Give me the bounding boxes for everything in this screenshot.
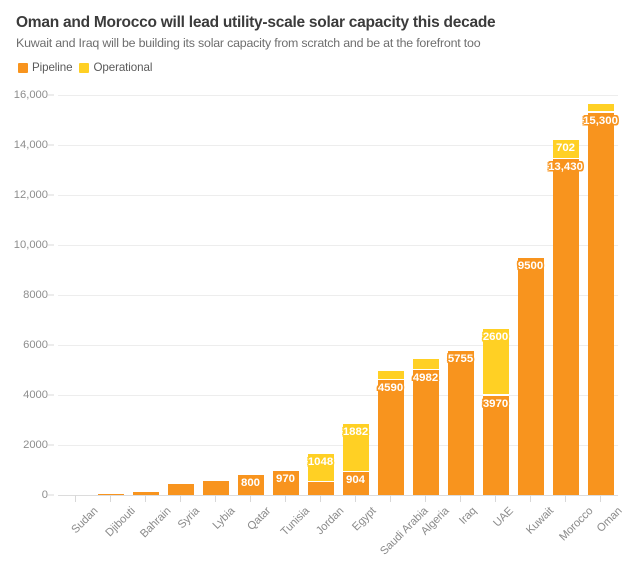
x-axis-tick: [233, 495, 268, 503]
x-axis-tick-mark: [355, 495, 356, 502]
x-axis-label-slot: Syria: [163, 503, 198, 563]
x-axis-label-slot: Sudan: [58, 503, 93, 563]
bar-data-label-operational: 1882: [341, 425, 370, 440]
x-axis-tick-mark: [75, 495, 76, 502]
page-subtitle: Kuwait and Iraq will be building its sol…: [16, 36, 608, 51]
bar-column[interactable]: [58, 95, 93, 495]
bar-segment-pipeline[interactable]: 5755: [448, 351, 474, 495]
x-axis-label-slot: UAE: [478, 503, 513, 563]
legend-label: Operational: [93, 61, 152, 74]
x-axis-tick: [163, 495, 198, 503]
bar-stack[interactable]: 26003970: [483, 329, 509, 495]
bar-column[interactable]: 1882904: [338, 95, 373, 495]
x-axis-tick-mark: [110, 495, 111, 502]
x-axis-tick-mark: [215, 495, 216, 502]
bar-stack[interactable]: 9500: [518, 258, 544, 496]
page-title: Oman and Morocco will lead utility-scale…: [16, 14, 608, 33]
bar-series-container: 8009701048188290445904982575526003970950…: [58, 95, 618, 495]
bar-stack[interactable]: 4590: [378, 371, 404, 495]
y-axis-tick-label: 8000: [23, 289, 48, 301]
y-axis-tick-mark: [48, 295, 54, 296]
x-axis-tick: [478, 495, 513, 503]
y-axis-tick-label: 2000: [23, 439, 48, 451]
bar-data-label-pipeline: 4982: [411, 371, 440, 386]
bar-segment-operational[interactable]: 702: [553, 140, 579, 158]
x-axis-label-slot: Qatar: [233, 503, 268, 563]
y-axis-tick-mark: [48, 445, 54, 446]
bar-column[interactable]: [128, 95, 163, 495]
bar-stack[interactable]: 15,300: [588, 104, 614, 495]
x-axis-tick: [548, 495, 583, 503]
x-axis-tick: [408, 495, 443, 503]
bar-segment-pipeline[interactable]: 3970: [483, 396, 509, 495]
x-axis-tick-mark: [530, 495, 531, 502]
y-axis-tick-mark: [48, 395, 54, 396]
y-axis-tick-mark: [48, 495, 54, 496]
legend-item-pipeline[interactable]: Pipeline: [18, 61, 72, 74]
bar-data-label-operational: 1048: [306, 455, 335, 470]
bar-stack[interactable]: 1048: [308, 454, 334, 495]
bar-segment-pipeline[interactable]: 970: [273, 471, 299, 495]
bar-segment-pipeline[interactable]: 15,300: [588, 113, 614, 496]
bar-stack[interactable]: [203, 481, 229, 495]
x-axis-tick: [58, 495, 93, 503]
bar-column[interactable]: 15,300: [583, 95, 618, 495]
x-axis-tick-mark: [460, 495, 461, 502]
bar-segment-pipeline[interactable]: [203, 481, 229, 495]
bar-data-label-operational: 702: [554, 141, 577, 156]
y-axis-tick-label: 10,000: [14, 239, 48, 251]
x-axis-label-slot: Bahrain: [128, 503, 163, 563]
chart-legend: PipelineOperational: [18, 61, 608, 74]
x-axis-label-slot: Djibouti: [93, 503, 128, 563]
plot-area: 0200040006000800010,00012,00014,00016,00…: [0, 95, 624, 562]
y-axis-tick-mark: [48, 245, 54, 246]
bar-stack[interactable]: 970: [273, 471, 299, 495]
legend-item-operational[interactable]: Operational: [79, 61, 152, 74]
y-axis-tick-label: 4000: [23, 389, 48, 401]
bar-column[interactable]: 5755: [443, 95, 478, 495]
x-axis-tick: [583, 495, 618, 503]
bar-data-label-pipeline: 15,300: [581, 114, 620, 129]
y-axis-tick-label: 16,000: [14, 89, 48, 101]
bar-segment-operational[interactable]: [588, 104, 614, 111]
x-axis-label-slot: Iraq: [443, 503, 478, 563]
bar-column[interactable]: 970: [268, 95, 303, 495]
x-axis-tick-mark: [600, 495, 601, 502]
x-axis-tick-mark: [250, 495, 251, 502]
x-axis-labels: SudanDjiboutiBahrainSyriaLybiaQatarTunis…: [58, 503, 618, 563]
bar-data-label-pipeline: 3970: [481, 397, 510, 412]
bar-data-label-pipeline: 4590: [376, 381, 405, 396]
x-axis-tick-mark: [145, 495, 146, 502]
x-axis-tick-mark: [390, 495, 391, 502]
bar-column[interactable]: [163, 95, 198, 495]
x-axis-tick: [93, 495, 128, 503]
x-axis-label-slot: Kuwait: [513, 503, 548, 563]
bar-data-label-pipeline: 5755: [446, 352, 475, 367]
y-axis-tick-mark: [48, 195, 54, 196]
x-axis-tick-mark: [180, 495, 181, 502]
bar-stack[interactable]: 800: [238, 475, 264, 495]
x-axis-label-slot: Jordan: [303, 503, 338, 563]
bar-column[interactable]: 800: [233, 95, 268, 495]
x-axis-category-label: UAE: [491, 505, 516, 530]
bar-data-label-pipeline: 970: [274, 472, 297, 487]
bar-stack[interactable]: 70213,430: [553, 140, 579, 495]
bar-data-label-pipeline: 800: [239, 476, 262, 491]
x-axis-category-label: Oman: [594, 505, 624, 535]
bar-stack[interactable]: 5755: [448, 351, 474, 495]
bar-segment-operational[interactable]: [378, 371, 404, 379]
bar-segment-operational[interactable]: [413, 359, 439, 369]
y-axis: 0200040006000800010,00012,00014,00016,00…: [0, 95, 58, 495]
x-axis-label-slot: Lybia: [198, 503, 233, 563]
bar-segment-operational[interactable]: 2600: [483, 329, 509, 394]
bar-data-label-operational: 2600: [481, 330, 510, 345]
x-axis-tick-mark: [320, 495, 321, 502]
bar-segment-pipeline[interactable]: 4982: [413, 370, 439, 495]
x-axis-tick: [443, 495, 478, 503]
x-axis-tick: [338, 495, 373, 503]
x-axis-tick: [373, 495, 408, 503]
bar-segment-pipeline[interactable]: [168, 484, 194, 496]
y-axis-tick-label: 12,000: [14, 189, 48, 201]
x-axis-tick: [303, 495, 338, 503]
x-axis-label-slot: Algeria: [408, 503, 443, 563]
bar-stack[interactable]: 4982: [413, 359, 439, 495]
bar-column[interactable]: 4982: [408, 95, 443, 495]
x-axis-tick: [513, 495, 548, 503]
x-axis-label-slot: Tunisia: [268, 503, 303, 563]
bar-column[interactable]: 26003970: [478, 95, 513, 495]
bar-column[interactable]: 9500: [513, 95, 548, 495]
x-axis-label-slot: Saudi Arabia: [373, 503, 408, 563]
y-axis-tick-mark: [48, 145, 54, 146]
bar-segment-pipeline[interactable]: 4590: [378, 380, 404, 495]
bar-segment-pipeline[interactable]: 800: [238, 475, 264, 495]
bar-segment-pipeline[interactable]: [308, 482, 334, 495]
bar-segment-operational[interactable]: 1882: [343, 424, 369, 471]
legend-swatch-icon: [79, 63, 89, 73]
bar-column[interactable]: 4590: [373, 95, 408, 495]
x-axis-tick-mark: [285, 495, 286, 502]
y-axis-tick-label: 6000: [23, 339, 48, 351]
x-axis-tick-mark: [425, 495, 426, 502]
bar-segment-pipeline[interactable]: 904: [343, 472, 369, 495]
bar-column[interactable]: [93, 95, 128, 495]
y-axis-tick-mark: [48, 95, 54, 96]
bar-column[interactable]: [198, 95, 233, 495]
x-axis-tick-mark: [495, 495, 496, 502]
bar-data-label-pipeline: 904: [344, 473, 367, 488]
legend-label: Pipeline: [32, 61, 72, 74]
bar-column[interactable]: 1048: [303, 95, 338, 495]
legend-swatch-icon: [18, 63, 28, 73]
bar-data-label-pipeline: 13,430: [546, 160, 585, 175]
x-axis-label-slot: Oman: [583, 503, 618, 563]
x-axis-label-slot: Egypt: [338, 503, 373, 563]
x-axis-category-label: Iraq: [457, 505, 479, 527]
bar-column[interactable]: 70213,430: [548, 95, 583, 495]
chart-page: Oman and Morocco will lead utility-scale…: [0, 0, 624, 562]
y-axis-tick-mark: [48, 345, 54, 346]
x-axis-ticks: [58, 495, 618, 503]
x-axis-tick: [198, 495, 233, 503]
bar-stack[interactable]: [168, 484, 194, 496]
x-axis-tick-mark: [565, 495, 566, 502]
chart-header: Oman and Morocco will lead utility-scale…: [0, 0, 624, 74]
bar-segment-operational[interactable]: 1048: [308, 454, 334, 480]
x-axis-tick: [268, 495, 303, 503]
bar-data-label-pipeline: 9500: [516, 259, 545, 274]
bar-segment-pipeline[interactable]: 13,430: [553, 159, 579, 495]
x-axis-tick: [128, 495, 163, 503]
x-axis-label-slot: Morocco: [548, 503, 583, 563]
y-axis-tick-label: 14,000: [14, 139, 48, 151]
bar-stack[interactable]: 1882904: [343, 424, 369, 495]
bar-segment-pipeline[interactable]: 9500: [518, 258, 544, 496]
